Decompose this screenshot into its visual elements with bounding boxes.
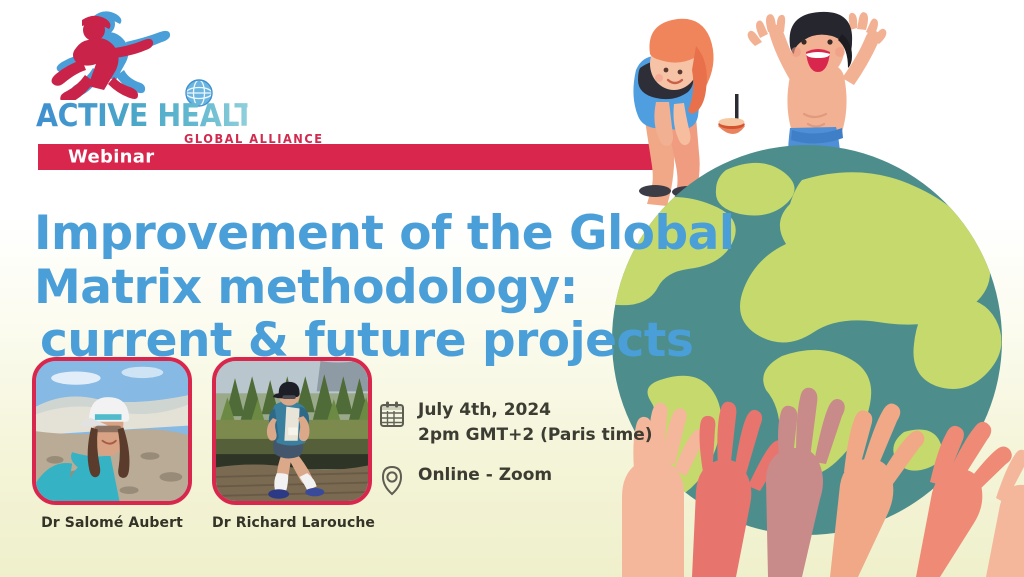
location-pin-icon bbox=[378, 463, 406, 497]
illustration-spinning-top bbox=[718, 94, 745, 134]
speaker-photo-richard-larouche bbox=[212, 357, 372, 505]
title-line-1: Improvement of the Global bbox=[34, 207, 724, 260]
running-figures-icon bbox=[42, 8, 182, 100]
webinar-badge-label: Webinar bbox=[68, 147, 154, 168]
speaker-card: Dr Salomé Aubert bbox=[32, 357, 192, 531]
organization-logo: ACTIVE HEALTHY KIDS GLOBAL ALLIANCE bbox=[36, 8, 296, 138]
logo-wordmark: ACTIVE HEALTHY KIDS bbox=[36, 101, 248, 132]
title-line-2: Matrix methodology: bbox=[34, 261, 724, 314]
webinar-badge: Webinar bbox=[38, 144, 666, 170]
event-date-row: July 4th, 2024 2pm GMT+2 (Paris time) bbox=[378, 398, 653, 447]
event-location: Online - Zoom bbox=[418, 463, 552, 488]
speaker-name: Dr Salomé Aubert bbox=[32, 515, 192, 531]
page-title: Improvement of the Global Matrix methodo… bbox=[34, 207, 724, 366]
event-location-row: Online - Zoom bbox=[378, 463, 653, 497]
speaker-name: Dr Richard Larouche bbox=[212, 515, 372, 531]
event-date: July 4th, 2024 bbox=[418, 398, 653, 423]
speaker-photo-salome-aubert bbox=[32, 357, 192, 505]
event-details: July 4th, 2024 2pm GMT+2 (Paris time) On… bbox=[378, 398, 653, 497]
event-date-text: July 4th, 2024 2pm GMT+2 (Paris time) bbox=[418, 398, 653, 447]
event-location-text: Online - Zoom bbox=[418, 463, 552, 488]
webinar-poster: ACTIVE HEALTHY KIDS GLOBAL ALLIANCE Webi… bbox=[0, 0, 1024, 577]
calendar-icon bbox=[378, 398, 406, 432]
event-time: 2pm GMT+2 (Paris time) bbox=[418, 423, 653, 448]
speaker-card: Dr Richard Larouche bbox=[212, 357, 372, 531]
